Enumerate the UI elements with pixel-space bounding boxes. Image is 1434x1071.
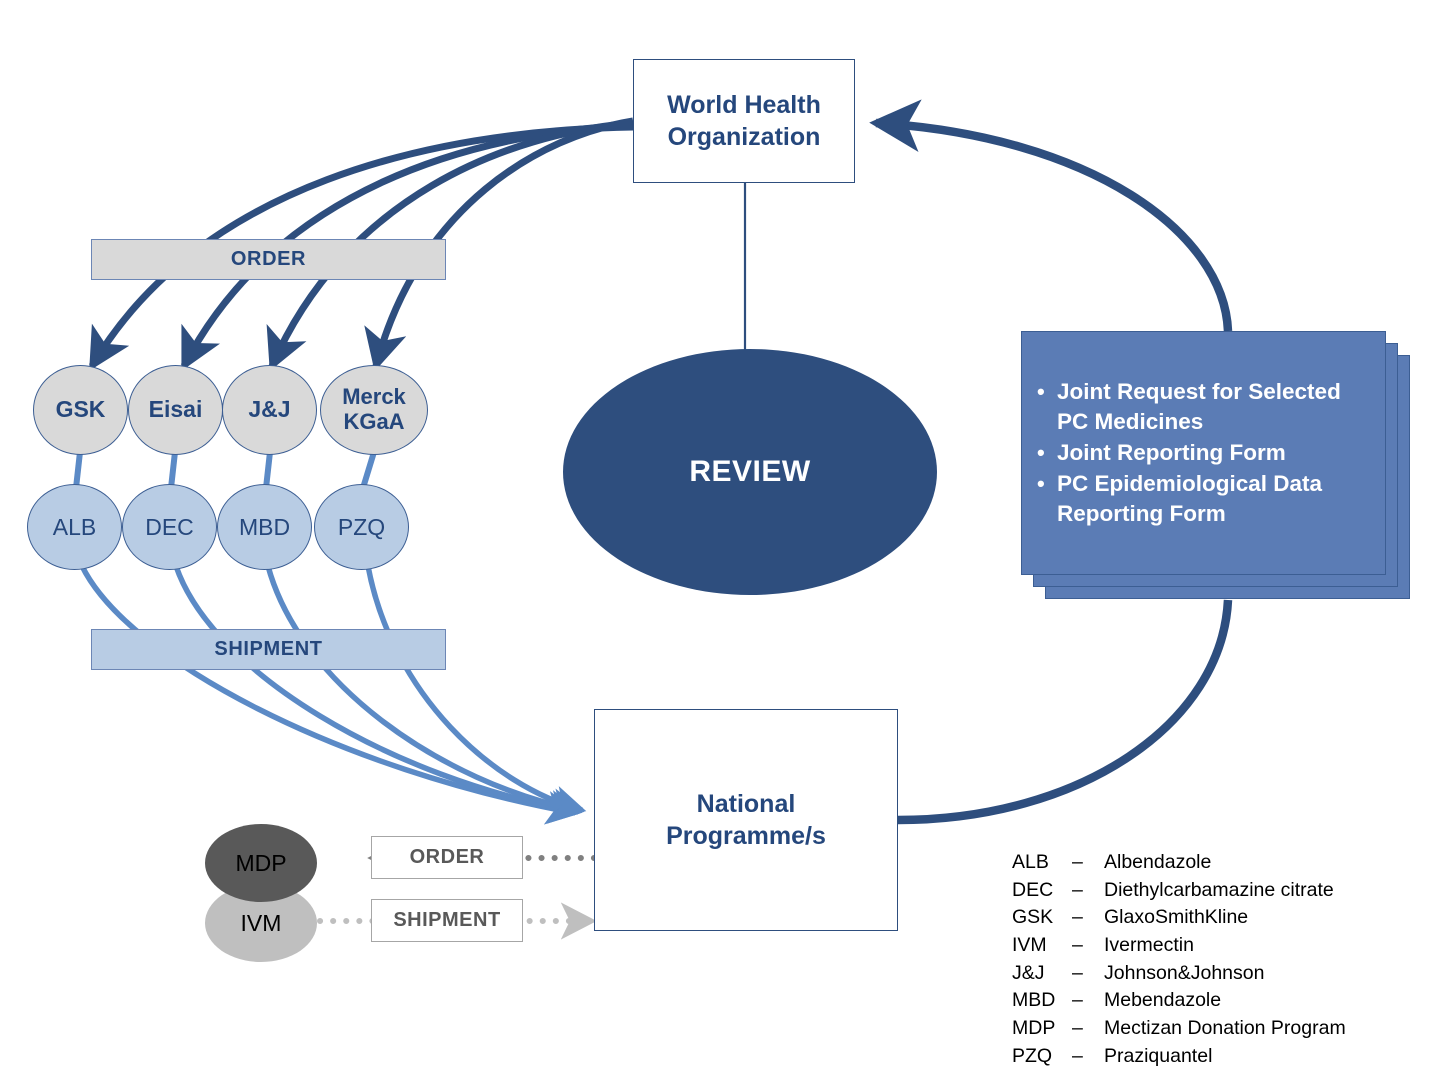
company-ellipse-eisai[interactable]: Eisai [128,365,223,455]
legend-dash: – [1072,1015,1104,1043]
legend-row: DEC – Diethylcarbamazine citrate [1012,877,1346,905]
legend-abbr: IVM [1012,932,1072,960]
legend-row: MBD – Mebendazole [1012,987,1346,1015]
company-ellipse-merck-kgaa[interactable]: Merck KGaA [320,365,428,455]
donation-shipment-label: SHIPMENT [393,909,500,932]
national-programme-label-line1: National [697,790,796,818]
drug-label: MBD [239,514,290,541]
legend-abbr: DEC [1012,877,1072,905]
legend-dash: – [1072,987,1104,1015]
ivm-label: IVM [241,910,282,937]
drug-label: DEC [145,514,194,541]
legend-text: Diethylcarbamazine citrate [1104,877,1334,905]
legend-row: J&J – Johnson&Johnson [1012,960,1346,988]
drug-ellipse-pzq[interactable]: PZQ [314,484,409,570]
mdp-label: MDP [235,850,286,877]
company-label: Merck KGaA [321,385,427,434]
legend-text: Mebendazole [1104,987,1221,1015]
legend-text: Albendazole [1104,849,1211,877]
legend-dash: – [1072,960,1104,988]
legend-text: Ivermectin [1104,932,1194,960]
legend-abbr: GSK [1012,904,1072,932]
documents-stack[interactable]: Joint Request for Selected PC Medicines … [1021,331,1420,599]
who-label-line1: World Health [667,91,821,119]
drug-ellipse-alb[interactable]: ALB [27,484,122,570]
legend-row: GSK – GlaxoSmithKline [1012,904,1346,932]
review-label: REVIEW [689,455,810,489]
legend-text: Praziquantel [1104,1043,1212,1071]
drug-label: PZQ [338,514,385,541]
drug-ellipse-dec[interactable]: DEC [122,484,217,570]
document-item: Joint Reporting Form [1057,438,1378,468]
drug-label: ALB [53,514,96,541]
legend-row: MDP – Mectizan Donation Program [1012,1015,1346,1043]
connector-documents-to-who [876,123,1228,331]
order-band: ORDER [91,239,446,280]
shipment-band-label: SHIPMENT [214,638,322,661]
legend-dash: – [1072,849,1104,877]
legend-abbr: MDP [1012,1015,1072,1043]
who-box[interactable]: World Health Organization [633,59,855,183]
review-ellipse[interactable]: REVIEW [563,349,937,595]
legend-row: PZQ – Praziquantel [1012,1043,1346,1071]
donation-order-label-box: ORDER [371,836,523,879]
company-label: Eisai [149,397,203,423]
legend-dash: – [1072,877,1104,905]
document-items: Joint Request for Selected PC Medicines … [1021,331,1386,575]
legend-abbr: ALB [1012,849,1072,877]
legend-abbr: PZQ [1012,1043,1072,1071]
shipment-band: SHIPMENT [91,629,446,670]
connector-natprog-to-documents [898,600,1228,820]
mdp-circle[interactable]: MDP [205,824,317,902]
company-label: J&J [248,397,290,423]
drug-ellipse-mbd[interactable]: MBD [217,484,312,570]
connector-company-to-drug [76,452,374,488]
national-programme-box[interactable]: National Programme/s [594,709,898,931]
legend-text: Mectizan Donation Program [1104,1015,1346,1043]
legend-dash: – [1072,1043,1104,1071]
legend-abbr: MBD [1012,987,1072,1015]
legend-row: IVM – Ivermectin [1012,932,1346,960]
legend-text: GlaxoSmithKline [1104,904,1248,932]
national-programme-label-line2: Programme/s [666,822,826,850]
legend-dash: – [1072,904,1104,932]
company-ellipse-jnj[interactable]: J&J [222,365,317,455]
legend-abbr: J&J [1012,960,1072,988]
connector-drugs-to-natprog [82,566,582,813]
legend-dash: – [1072,932,1104,960]
legend-row: ALB – Albendazole [1012,849,1346,877]
order-band-label: ORDER [231,248,306,271]
company-label: GSK [56,397,106,423]
document-item: PC Epidemiological Data Reporting Form [1057,469,1378,529]
donation-order-label: ORDER [410,846,485,869]
abbreviation-legend: ALB – Albendazole DEC – Diethylcarbamazi… [1012,849,1346,1071]
donation-shipment-label-box: SHIPMENT [371,899,523,942]
who-label-line2: Organization [668,123,821,151]
document-item: Joint Request for Selected PC Medicines [1057,377,1378,437]
company-ellipse-gsk[interactable]: GSK [33,365,128,455]
legend-text: Johnson&Johnson [1104,960,1264,988]
